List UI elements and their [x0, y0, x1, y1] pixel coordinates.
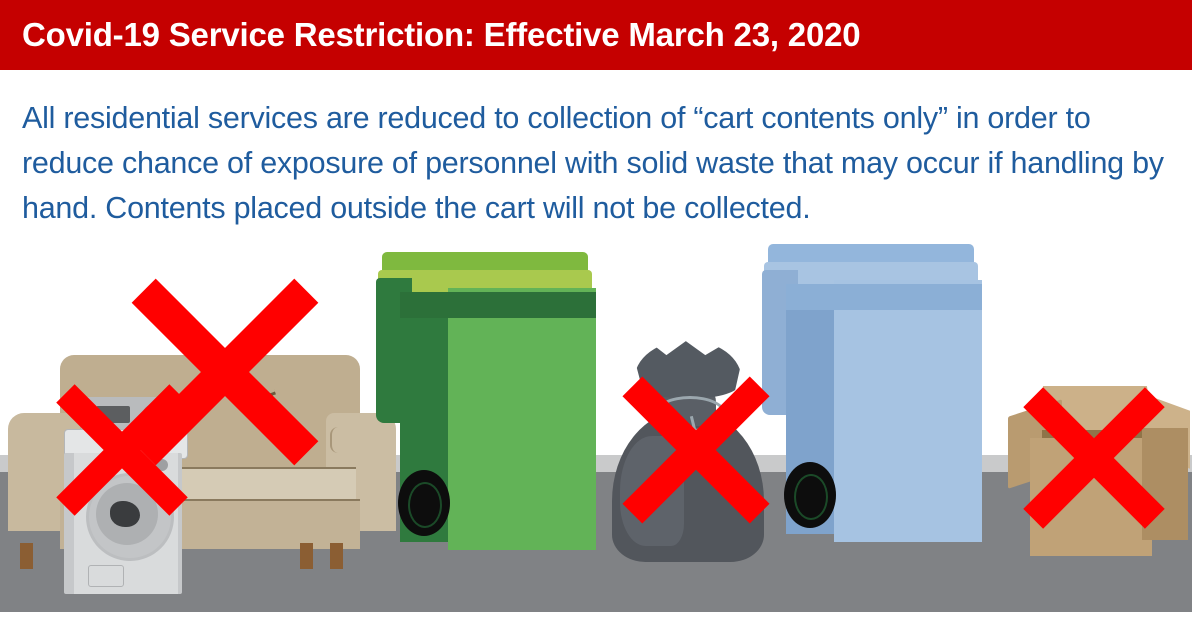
covid-service-restriction-notice: Covid-19 Service Restriction: Effective …: [0, 0, 1192, 617]
washing-machine-illustration: [60, 397, 190, 594]
trash-bag-highlight: [620, 436, 684, 546]
blue-cart-illustration: [762, 244, 992, 560]
blue-cart-top-band: [786, 284, 982, 310]
washer-drum: [110, 501, 140, 527]
washer-label-plate: [88, 565, 124, 587]
couch-scuff-detail: [330, 427, 346, 453]
couch-leg: [330, 543, 343, 569]
blue-cart-wheel-hub: [794, 474, 828, 520]
washer-power-button: [156, 459, 168, 471]
trash-bag-tie: [654, 396, 726, 432]
page-title: Covid-19 Service Restriction: Effective …: [22, 16, 860, 54]
notice-paragraph: All residential services are reduced to …: [22, 96, 1167, 231]
header-banner: Covid-19 Service Restriction: Effective …: [0, 0, 1192, 70]
trash-bag-ruffle-top: [634, 340, 742, 398]
blue-cart-body-front: [834, 280, 982, 542]
couch-leg: [20, 543, 33, 569]
box-front-panel: [1030, 438, 1152, 556]
green-cart-body-front: [448, 288, 596, 550]
washer-dial-knob: [142, 404, 166, 428]
bottom-white-border: [0, 612, 1192, 617]
cardboard-box-illustration: [1002, 380, 1190, 562]
box-side-panel: [1142, 428, 1188, 540]
washer-display-screen: [96, 406, 130, 423]
green-cart-illustration: [376, 252, 606, 562]
couch-leg: [300, 543, 313, 569]
trash-bag-illustration: [608, 340, 768, 562]
green-cart-wheel-hub: [408, 482, 442, 528]
green-cart-top-band: [400, 292, 596, 318]
illustration-scene: [0, 240, 1192, 617]
